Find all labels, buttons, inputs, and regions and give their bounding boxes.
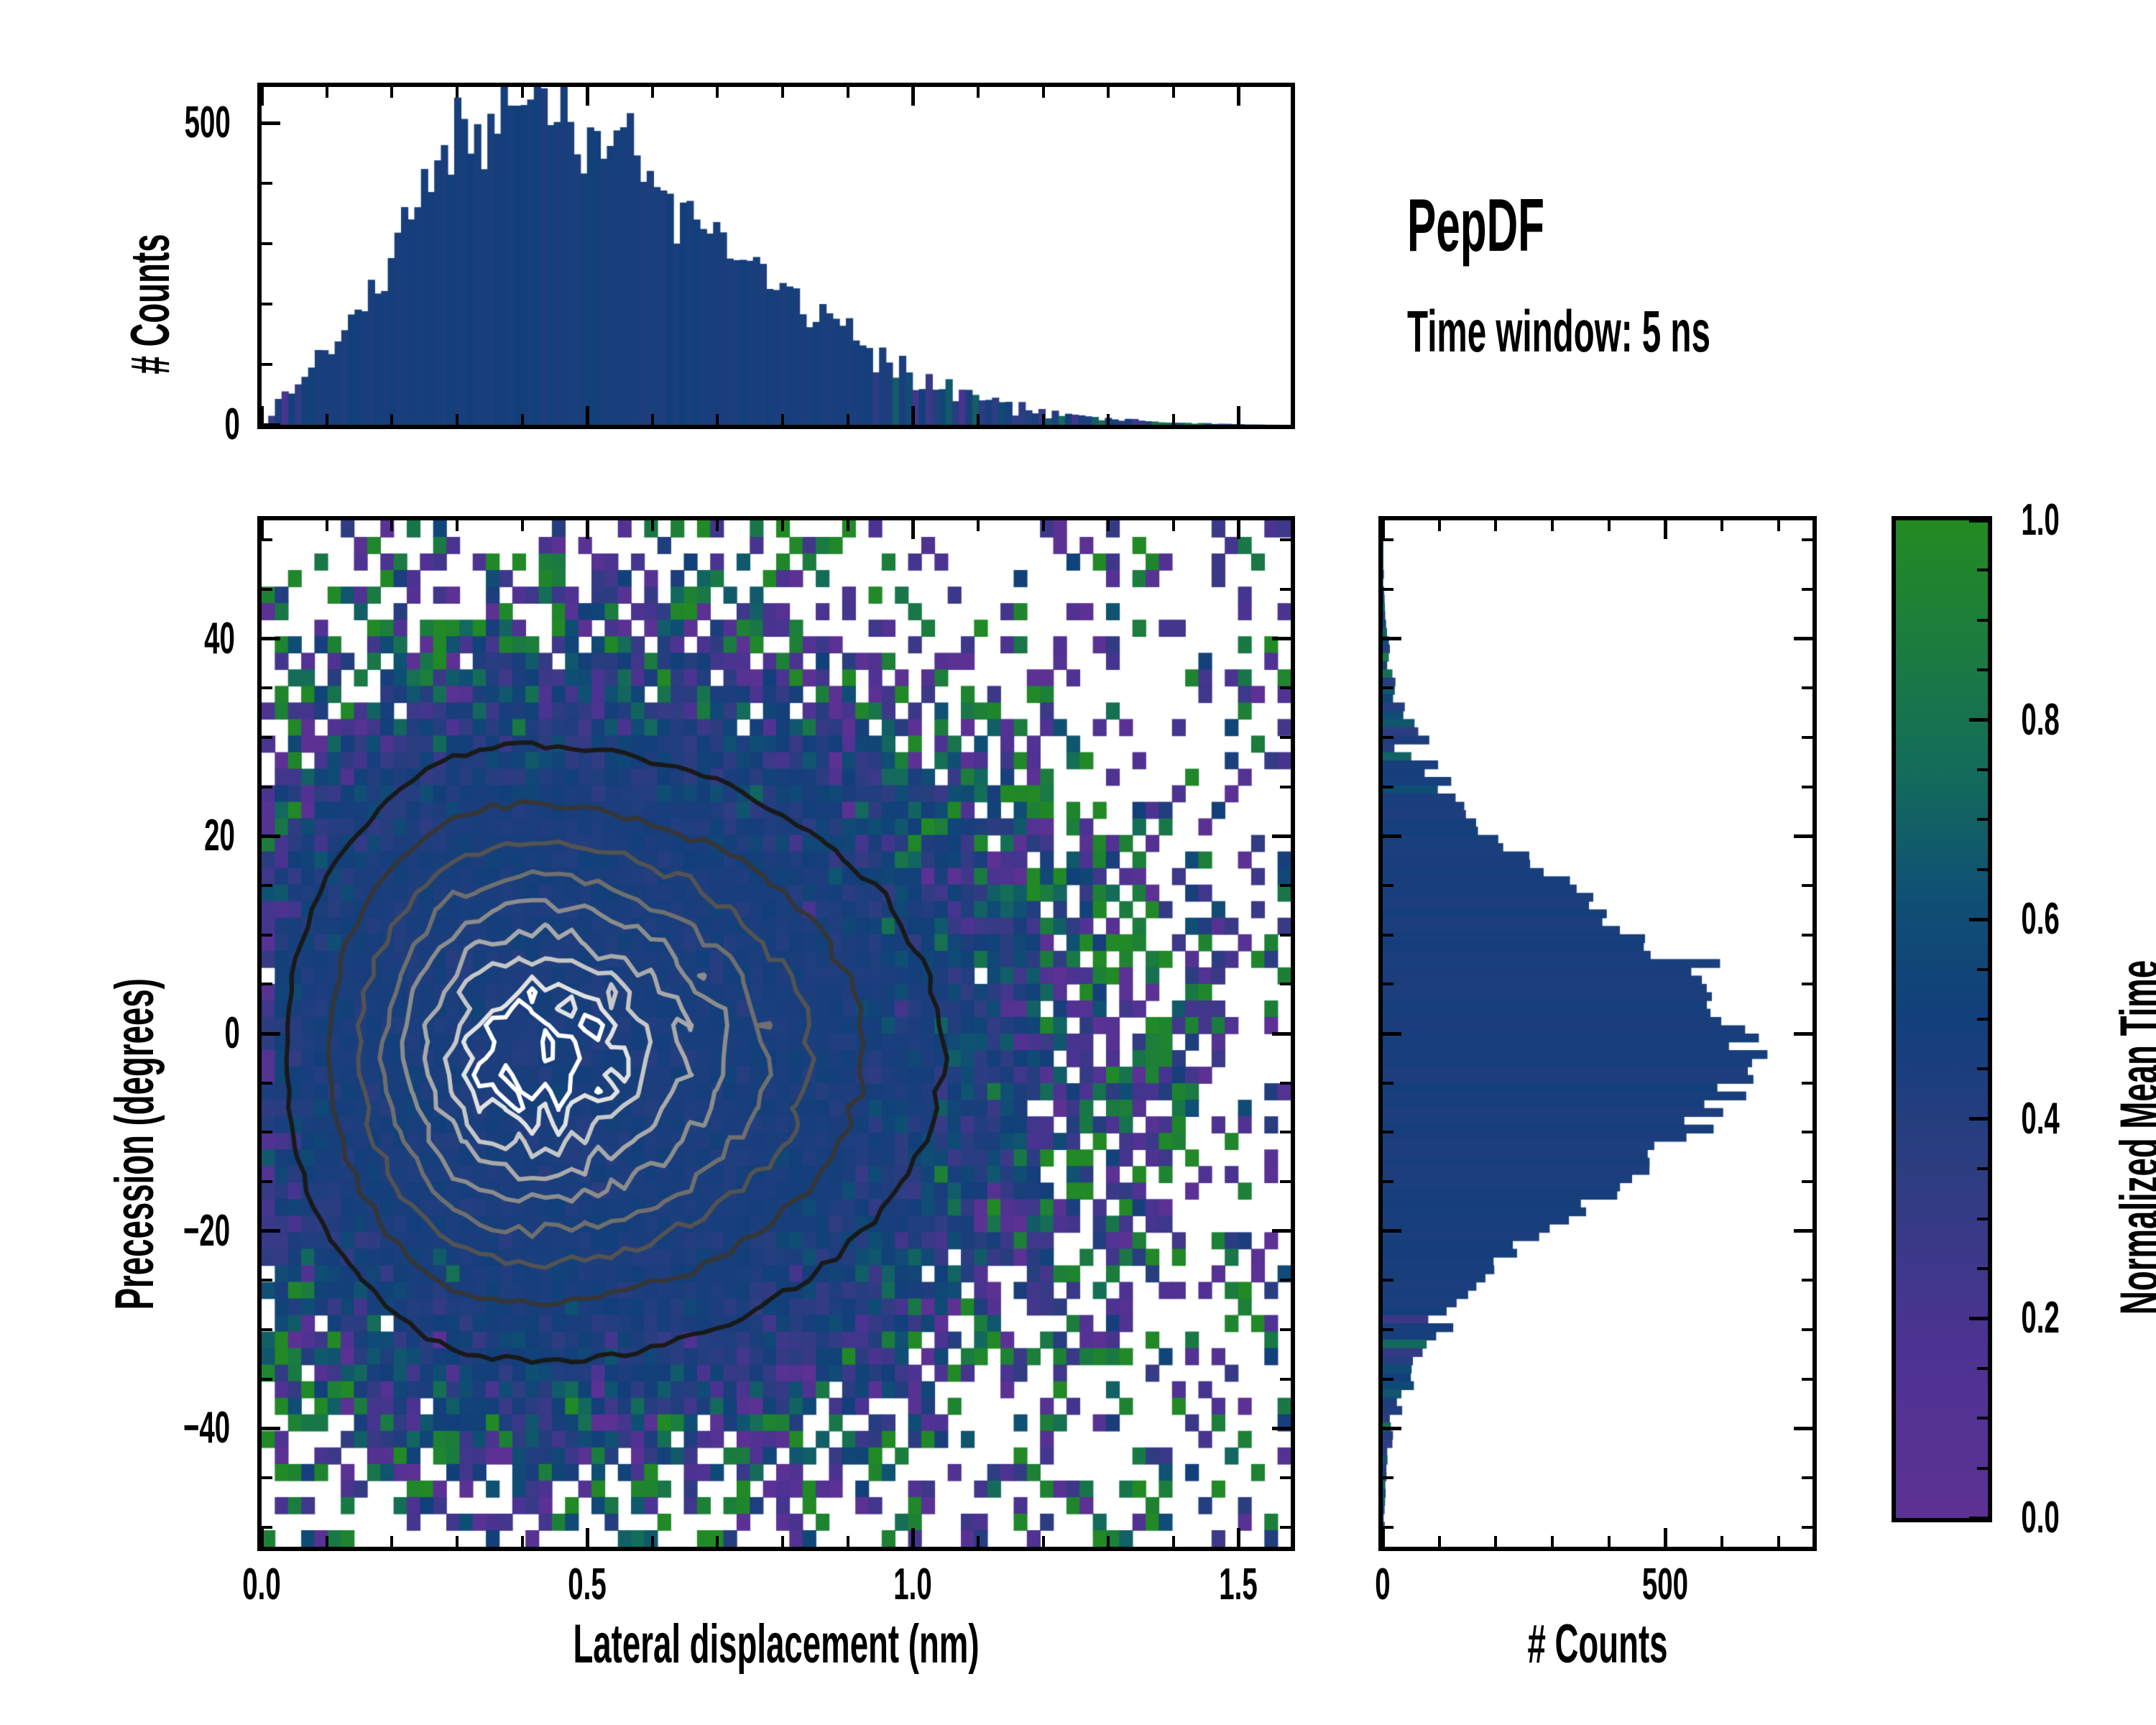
colorbar-tick-label: 0.6	[2021, 897, 2059, 942]
tick-mark	[1802, 1526, 1812, 1529]
tick-mark	[1794, 637, 1812, 640]
tick-mark	[1280, 1328, 1291, 1331]
tick-mark	[1608, 520, 1611, 531]
tick-mark	[586, 1528, 589, 1547]
tick-mark	[1977, 968, 1988, 971]
right-histogram-plot	[1383, 520, 1812, 1547]
colorbar-title: Normalized Mean Time	[2113, 960, 2156, 1315]
tick-mark	[262, 1082, 272, 1085]
tick-mark	[326, 87, 328, 98]
tick-mark	[651, 520, 654, 531]
tick-mark	[651, 87, 654, 98]
tick-mark	[1794, 1229, 1812, 1233]
tick-mark	[1383, 736, 1393, 739]
top-hist-y-tick-label: 0	[224, 402, 239, 447]
tick-mark	[1969, 519, 1988, 523]
tick-mark	[977, 414, 980, 425]
tick-mark	[456, 87, 459, 98]
tick-mark	[262, 1032, 280, 1036]
tick-mark	[847, 1536, 849, 1547]
tick-mark	[262, 1180, 272, 1183]
tick-mark	[1977, 1267, 1988, 1270]
tick-mark	[1383, 588, 1393, 591]
tick-mark	[1172, 520, 1175, 531]
tick-mark	[1794, 1032, 1812, 1036]
tick-mark	[1977, 868, 1988, 871]
tick-mark	[326, 414, 328, 425]
tick-mark	[1802, 1328, 1812, 1331]
tick-mark	[1977, 668, 1988, 671]
tick-mark	[1494, 1536, 1497, 1547]
tick-mark	[1272, 1229, 1291, 1233]
tick-mark	[977, 520, 980, 531]
right-marginal-histogram-panel	[1378, 516, 1817, 1551]
tick-mark	[1381, 520, 1385, 539]
tick-mark	[1794, 1427, 1812, 1430]
tick-mark	[586, 87, 589, 106]
colorbar-tick-label: 0.2	[2021, 1296, 2059, 1340]
tick-mark	[781, 520, 784, 531]
tick-mark	[1802, 588, 1812, 591]
tick-mark	[977, 87, 980, 98]
tick-mark	[1280, 1476, 1291, 1479]
tick-mark	[781, 87, 784, 98]
tick-mark	[911, 1528, 915, 1547]
tick-mark	[1977, 1018, 1988, 1021]
colorbar-gradient	[1896, 520, 1988, 1518]
tick-mark	[456, 1536, 459, 1547]
tick-mark	[1551, 520, 1554, 531]
tick-mark	[1280, 686, 1291, 689]
tick-mark	[1777, 520, 1780, 531]
colorbar	[1892, 516, 1992, 1522]
tick-mark	[1280, 1082, 1291, 1085]
tick-mark	[1172, 414, 1175, 425]
tick-mark	[390, 87, 393, 98]
tick-mark	[262, 1378, 272, 1381]
tick-mark	[1042, 520, 1045, 531]
tick-mark	[1383, 786, 1393, 788]
tick-mark	[1383, 1378, 1393, 1381]
x-axis-title: Lateral displacement (nm)	[573, 1617, 979, 1672]
tick-mark	[1802, 1279, 1812, 1282]
tick-mark	[1383, 934, 1393, 937]
tick-mark	[651, 414, 654, 425]
tick-mark	[1383, 1180, 1393, 1183]
joint-heatmap-panel	[257, 516, 1295, 1551]
tick-mark	[262, 363, 272, 366]
tick-mark	[390, 1536, 393, 1547]
tick-mark	[1383, 884, 1393, 887]
tick-mark	[1802, 686, 1812, 689]
tick-mark	[1383, 686, 1393, 689]
tick-mark	[1383, 1427, 1401, 1430]
tick-mark	[1977, 569, 1988, 571]
tick-mark	[1042, 1536, 1045, 1547]
tick-mark	[1383, 1032, 1401, 1036]
tick-mark	[262, 1279, 272, 1282]
tick-mark	[716, 414, 719, 425]
tick-mark	[911, 87, 915, 106]
tick-mark	[1977, 619, 1988, 622]
top-histogram-y-axis-title: # Counts	[124, 234, 178, 374]
y-tick-label: 20	[204, 814, 235, 858]
tick-mark	[262, 1131, 272, 1133]
right-hist-x-tick-label: 0	[1375, 1563, 1390, 1607]
tick-mark	[1664, 1528, 1667, 1547]
tick-mark	[260, 520, 264, 539]
tick-mark	[1802, 1131, 1812, 1133]
tick-mark	[456, 520, 459, 531]
tick-mark	[1383, 983, 1393, 985]
tick-mark	[1802, 1476, 1812, 1479]
tick-mark	[1107, 87, 1110, 98]
tick-mark	[977, 1536, 980, 1547]
tick-mark	[1608, 1536, 1611, 1547]
tick-mark	[262, 182, 272, 185]
tick-mark	[1280, 538, 1291, 541]
tick-mark	[1977, 818, 1988, 821]
tick-mark	[262, 588, 272, 591]
tick-mark	[262, 736, 272, 739]
figure-canvas: 0500 # Counts 0.00.51.01.5 −40−2002040 L…	[0, 0, 2156, 1725]
tick-mark	[262, 121, 280, 125]
tick-mark	[1969, 1317, 1988, 1320]
tick-mark	[1802, 1180, 1812, 1183]
tick-mark	[1107, 1536, 1110, 1547]
tick-mark	[521, 414, 524, 425]
tick-mark	[1438, 520, 1441, 531]
tick-mark	[1272, 1032, 1291, 1036]
x-tick-label: 0.0	[242, 1563, 280, 1607]
density-contour-overlay	[262, 520, 1291, 1547]
x-tick-label: 1.0	[894, 1563, 932, 1607]
tick-mark	[1280, 736, 1291, 739]
tick-mark	[262, 423, 280, 427]
tick-mark	[262, 538, 272, 541]
tick-mark	[390, 414, 393, 425]
page-title: PepDF	[1407, 183, 1544, 269]
tick-mark	[1777, 1536, 1780, 1547]
tick-mark	[1802, 983, 1812, 985]
tick-mark	[1551, 1536, 1554, 1547]
tick-mark	[1383, 1082, 1393, 1085]
tick-mark	[1383, 1526, 1393, 1529]
tick-mark	[260, 406, 264, 425]
tick-mark	[262, 1476, 272, 1479]
tick-mark	[262, 983, 272, 985]
tick-mark	[1280, 934, 1291, 937]
y-axis-title: Precession (degrees)	[108, 978, 162, 1310]
tick-mark	[1383, 538, 1393, 541]
tick-mark	[911, 520, 915, 539]
tick-mark	[1802, 1378, 1812, 1381]
tick-mark	[262, 1229, 280, 1233]
colorbar-tick-label: 1.0	[2021, 498, 2059, 543]
tick-mark	[1383, 834, 1401, 838]
tick-mark	[262, 786, 272, 788]
tick-mark	[1802, 736, 1812, 739]
tick-mark	[911, 406, 915, 425]
tick-mark	[390, 520, 393, 531]
colorbar-tick-label: 0.8	[2021, 698, 2059, 742]
tick-mark	[1438, 1536, 1441, 1547]
tick-mark	[262, 637, 280, 640]
tick-mark	[1977, 1067, 1988, 1070]
tick-mark	[1977, 1467, 1988, 1470]
tick-mark	[1969, 718, 1988, 722]
top-hist-y-tick-label: 500	[184, 101, 230, 145]
colorbar-tick-label: 0.4	[2021, 1097, 2059, 1141]
y-tick-label: 0	[224, 1011, 239, 1056]
tick-mark	[1107, 414, 1110, 425]
tick-mark	[1802, 934, 1812, 937]
tick-mark	[1802, 884, 1812, 887]
tick-mark	[1272, 834, 1291, 838]
tick-mark	[260, 87, 264, 106]
tick-mark	[716, 520, 719, 531]
tick-mark	[1969, 918, 1988, 921]
tick-mark	[1383, 1131, 1393, 1133]
colorbar-tick-label: 0.0	[2021, 1496, 2059, 1540]
tick-mark	[1720, 520, 1723, 531]
tick-mark	[1969, 1517, 1988, 1520]
tick-mark	[1794, 834, 1812, 838]
tick-mark	[781, 414, 784, 425]
tick-mark	[1381, 1528, 1385, 1547]
right-histogram-x-axis-title: # Counts	[1527, 1617, 1667, 1672]
tick-mark	[847, 520, 849, 531]
tick-mark	[1977, 1417, 1988, 1420]
top-marginal-histogram-panel	[257, 83, 1295, 429]
tick-mark	[1383, 1328, 1393, 1331]
tick-mark	[1272, 1427, 1291, 1430]
tick-mark	[521, 1536, 524, 1547]
tick-mark	[1280, 983, 1291, 985]
tick-mark	[847, 87, 849, 98]
tick-mark	[651, 1536, 654, 1547]
tick-mark	[326, 520, 328, 531]
tick-mark	[262, 1427, 280, 1430]
tick-mark	[1280, 1526, 1291, 1529]
tick-mark	[1383, 1229, 1401, 1233]
tick-mark	[847, 414, 849, 425]
tick-mark	[1802, 1082, 1812, 1085]
tick-mark	[1272, 637, 1291, 640]
tick-mark	[1280, 1378, 1291, 1381]
tick-mark	[1802, 786, 1812, 788]
tick-mark	[1383, 637, 1401, 640]
tick-mark	[1042, 414, 1045, 425]
tick-mark	[1172, 87, 1175, 98]
tick-mark	[262, 934, 272, 937]
top-histogram-plot	[262, 87, 1291, 425]
tick-mark	[1107, 520, 1110, 531]
tick-mark	[456, 414, 459, 425]
right-hist-x-tick-label: 500	[1642, 1563, 1688, 1607]
figure-subtitle: Time window: 5 ns	[1407, 298, 1710, 366]
tick-mark	[1383, 1476, 1393, 1479]
tick-mark	[1802, 538, 1812, 541]
tick-mark	[262, 884, 272, 887]
tick-mark	[1383, 1279, 1393, 1282]
tick-mark	[1977, 1218, 1988, 1220]
tick-mark	[260, 1528, 264, 1547]
tick-mark	[1280, 1180, 1291, 1183]
tick-mark	[521, 520, 524, 531]
x-tick-label: 1.5	[1220, 1563, 1258, 1607]
tick-mark	[716, 1536, 719, 1547]
tick-mark	[1280, 884, 1291, 887]
tick-mark	[1720, 1536, 1723, 1547]
tick-mark	[1494, 520, 1497, 531]
tick-mark	[1280, 588, 1291, 591]
tick-mark	[326, 1536, 328, 1547]
tick-mark	[1237, 1528, 1240, 1547]
tick-mark	[781, 1536, 784, 1547]
tick-mark	[1237, 87, 1240, 106]
tick-mark	[1280, 786, 1291, 788]
tick-mark	[1237, 520, 1240, 539]
tick-mark	[262, 242, 272, 245]
tick-mark	[1969, 1117, 1988, 1121]
tick-mark	[1977, 1367, 1988, 1370]
tick-mark	[262, 834, 280, 838]
tick-mark	[1977, 768, 1988, 771]
tick-mark	[1042, 87, 1045, 98]
tick-mark	[586, 520, 589, 539]
tick-mark	[1664, 520, 1667, 539]
y-tick-label: −40	[183, 1406, 230, 1450]
tick-mark	[521, 87, 524, 98]
tick-mark	[1977, 1167, 1988, 1170]
x-tick-label: 0.5	[568, 1563, 606, 1607]
tick-mark	[262, 686, 272, 689]
tick-mark	[262, 1328, 272, 1331]
y-tick-label: 40	[204, 617, 235, 661]
y-tick-label: −20	[183, 1209, 230, 1253]
tick-mark	[1280, 1131, 1291, 1133]
tick-mark	[586, 406, 589, 425]
tick-mark	[262, 1526, 272, 1529]
tick-mark	[1172, 1536, 1175, 1547]
tick-mark	[262, 303, 272, 305]
tick-mark	[1237, 406, 1240, 425]
tick-mark	[1280, 1279, 1291, 1282]
tick-mark	[716, 87, 719, 98]
